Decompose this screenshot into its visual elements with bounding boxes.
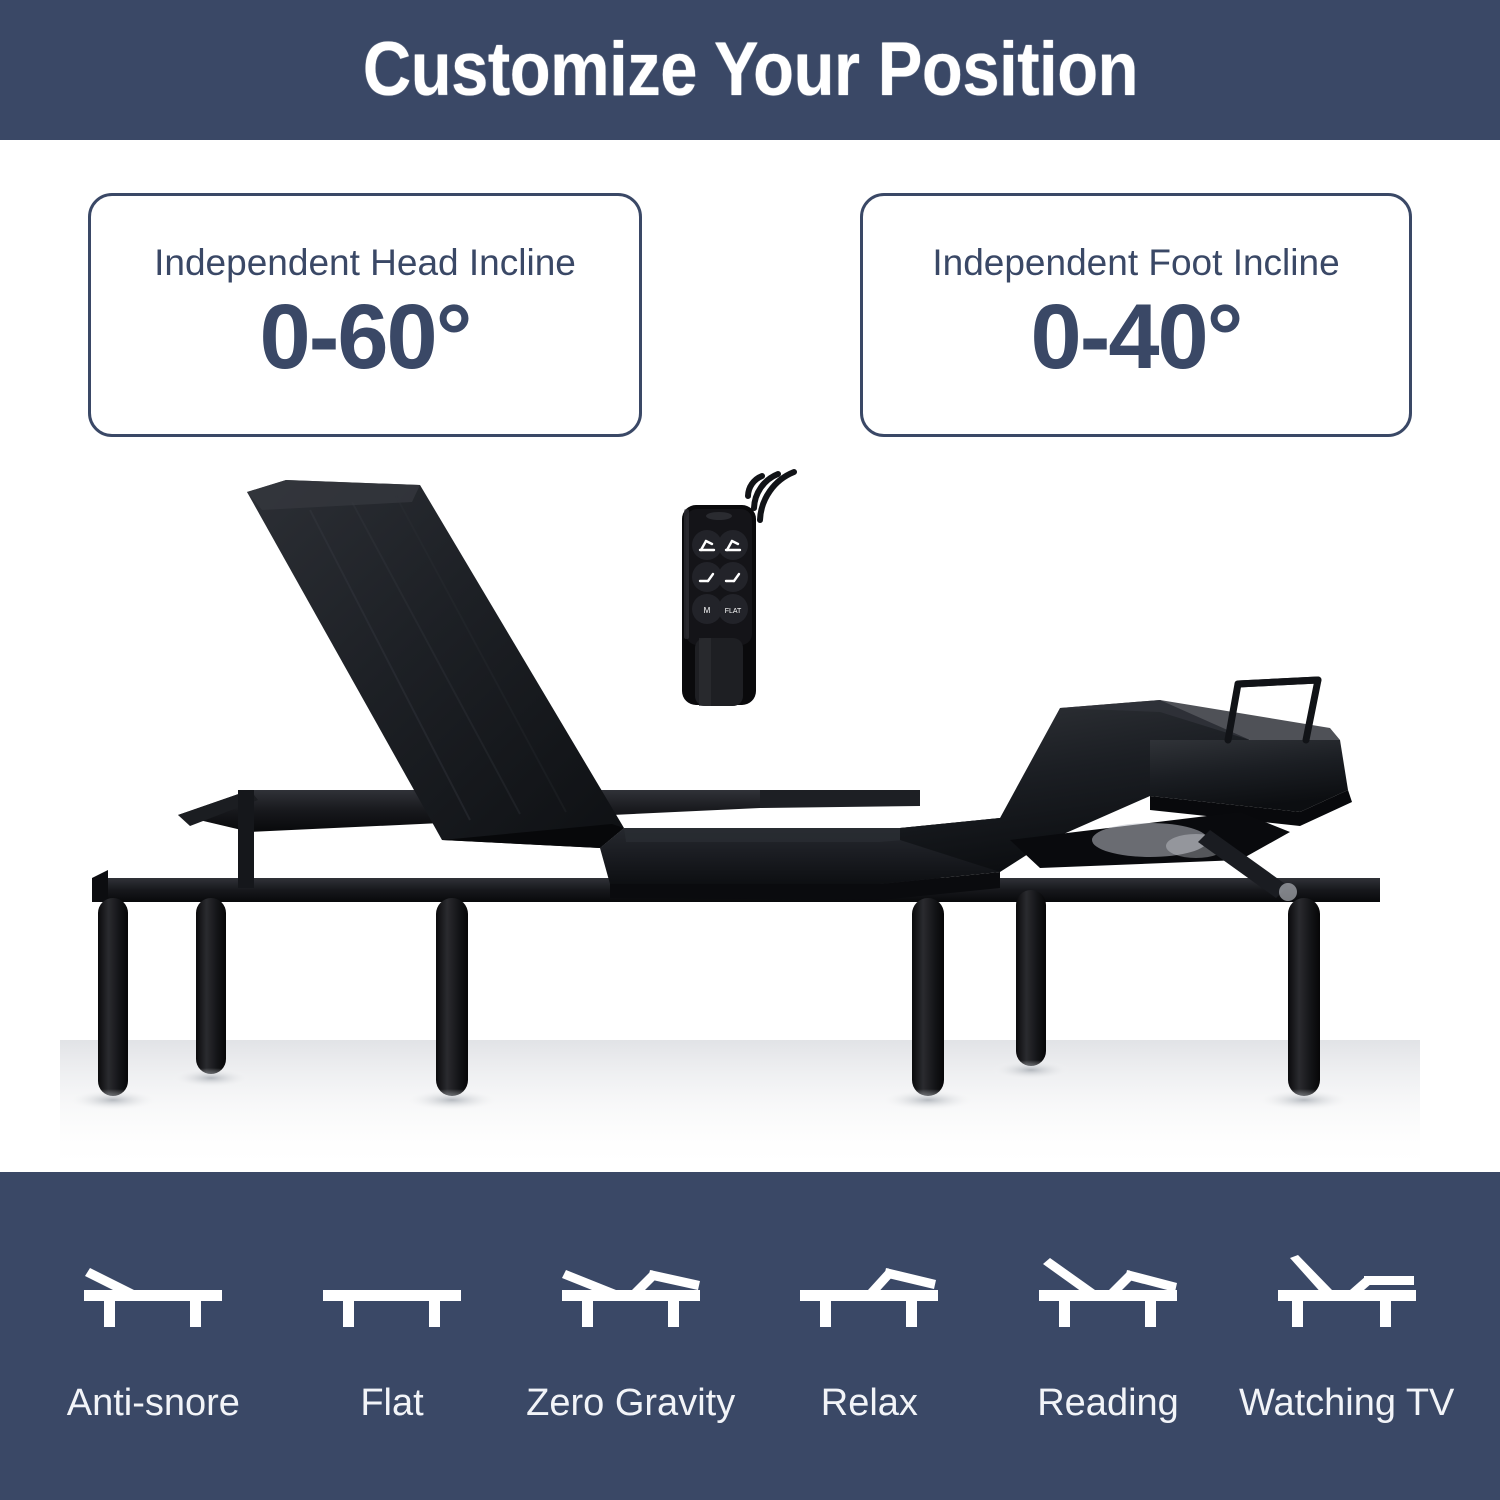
bed-position-zero-gravity-icon bbox=[546, 1250, 716, 1328]
spec-card-head-incline: Independent Head Incline 0-60° bbox=[88, 193, 642, 437]
bed-position-flat-icon bbox=[307, 1250, 477, 1328]
bed-position-relax-icon bbox=[784, 1250, 954, 1328]
bed-position-reading-icon bbox=[1023, 1250, 1193, 1328]
remote-button-foot-up[interactable] bbox=[692, 562, 722, 592]
wireless-remote[interactable]: M FLAT bbox=[682, 472, 794, 706]
position-preset-zero-gravity[interactable]: Zero Gravity bbox=[511, 1250, 750, 1422]
position-preset-label-reading: Reading bbox=[1037, 1384, 1179, 1422]
page-title: Customize Your Position bbox=[362, 32, 1137, 108]
remote-button-head-up[interactable] bbox=[692, 530, 722, 560]
bed-position-watching-tv-icon bbox=[1262, 1250, 1432, 1328]
position-preset-label-anti-snore: Anti-snore bbox=[67, 1384, 240, 1422]
position-preset-relax[interactable]: Relax bbox=[750, 1250, 989, 1422]
position-preset-label-watching-tv: Watching TV bbox=[1239, 1384, 1454, 1422]
remote-button-flat[interactable]: FLAT bbox=[718, 594, 748, 624]
spec-label-foot-incline: Independent Foot Incline bbox=[932, 244, 1339, 281]
position-preset-label-relax: Relax bbox=[821, 1384, 918, 1422]
remote-button-foot-down[interactable] bbox=[718, 562, 748, 592]
remote-button-flat-label: FLAT bbox=[725, 608, 742, 615]
remote-button-massage-label: M bbox=[704, 606, 711, 615]
position-preset-reading[interactable]: Reading bbox=[989, 1250, 1228, 1422]
position-preset-label-flat: Flat bbox=[360, 1384, 423, 1422]
wireless-signal-icon bbox=[748, 472, 794, 520]
remote-button-massage[interactable]: M bbox=[692, 594, 722, 624]
position-preset-label-zero-gravity: Zero Gravity bbox=[526, 1384, 735, 1422]
header-banner: Customize Your Position bbox=[0, 0, 1500, 140]
position-preset-flat[interactable]: Flat bbox=[273, 1250, 512, 1422]
remote-button-head-down[interactable] bbox=[718, 530, 748, 560]
adjustable-bed-illustration: M FLAT bbox=[0, 440, 1500, 1172]
spec-label-head-incline: Independent Head Incline bbox=[154, 244, 576, 281]
position-preset-watching-tv[interactable]: Watching TV bbox=[1227, 1250, 1466, 1422]
spec-card-foot-incline: Independent Foot Incline 0-40° bbox=[860, 193, 1412, 437]
spec-value-foot-incline: 0-40° bbox=[1031, 289, 1242, 386]
position-presets-row: Anti-snore Flat bbox=[0, 1172, 1500, 1500]
product-photo: M FLAT bbox=[0, 440, 1500, 1172]
spec-value-head-incline: 0-60° bbox=[260, 289, 471, 386]
footer-banner: Anti-snore Flat bbox=[0, 1172, 1500, 1500]
position-preset-anti-snore[interactable]: Anti-snore bbox=[34, 1250, 273, 1422]
bed-position-anti-snore-icon bbox=[68, 1250, 238, 1328]
